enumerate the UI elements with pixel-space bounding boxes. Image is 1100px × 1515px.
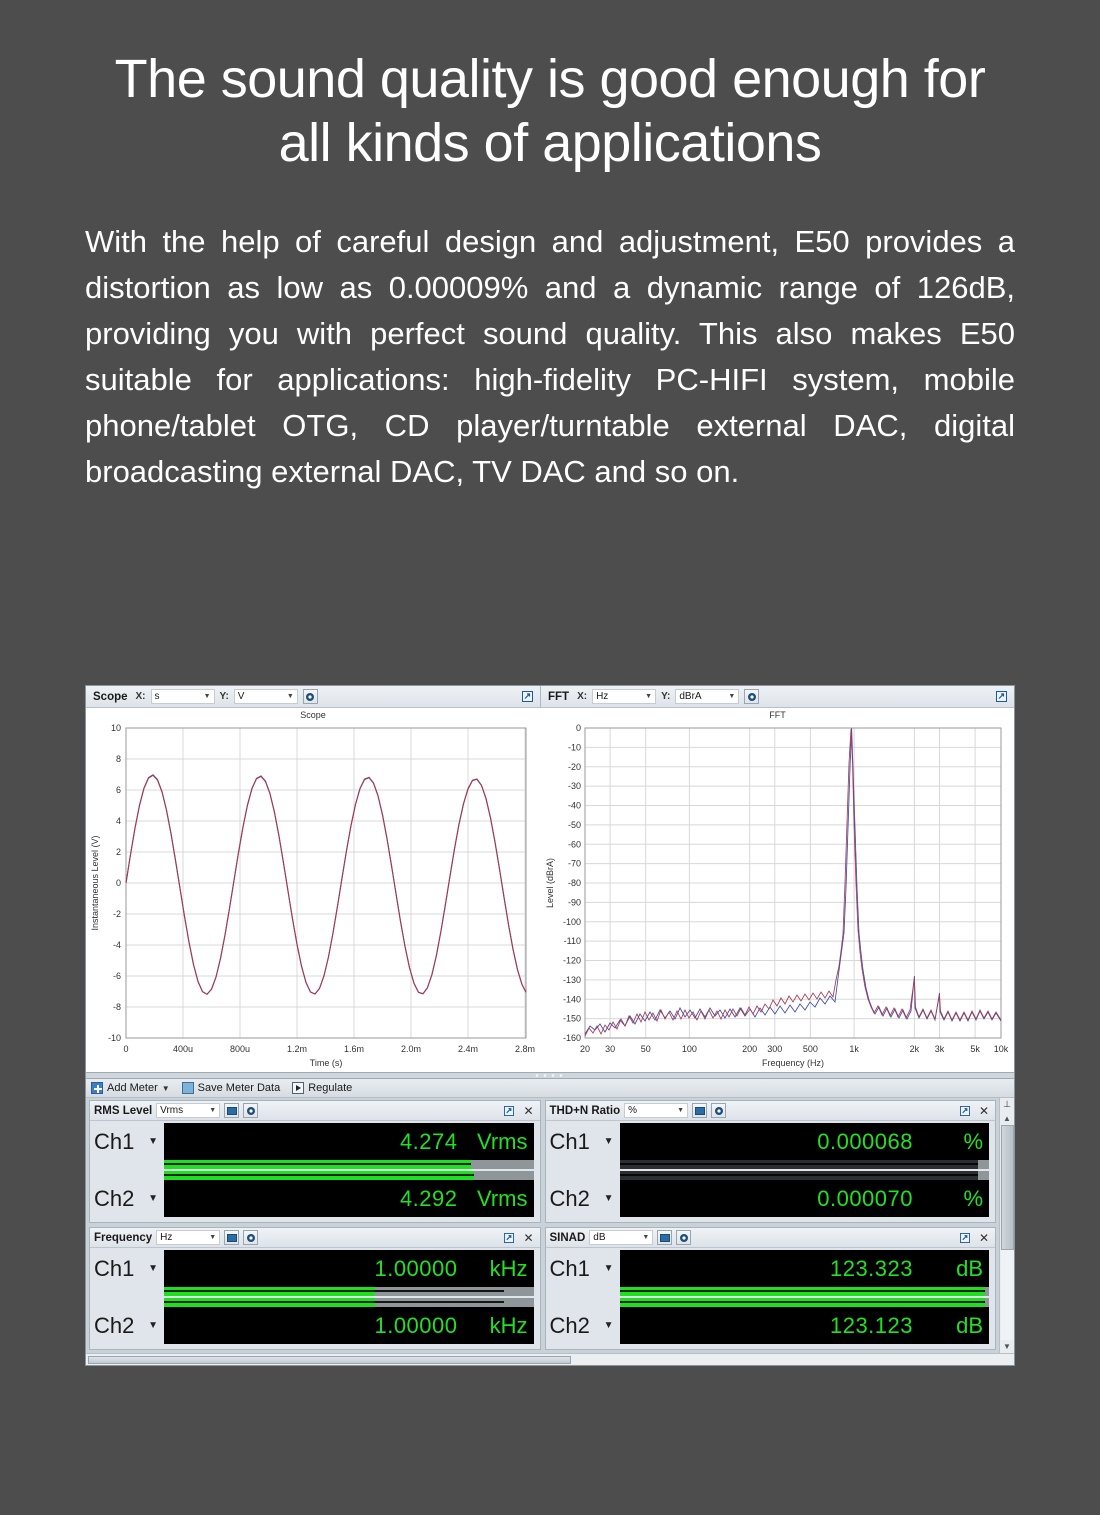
horizontal-scroll-thumb[interactable] [88,1356,571,1364]
meter-unit-value: Vrms [160,1105,183,1116]
gear-icon [246,1233,256,1243]
chevron-down-icon: ▼ [162,1084,170,1093]
scope-settings-button[interactable] [303,689,318,704]
chevron-down-icon: ▼ [728,693,735,700]
chevron-down-icon: ▼ [209,1234,216,1241]
chevron-down-icon: ▼ [148,1263,158,1274]
meter-row: Ch2 ▼ 0.000070 % [550,1180,990,1217]
channel-select[interactable]: Ch1 ▼ [94,1256,164,1282]
svg-text:-10: -10 [568,742,581,752]
channel-select[interactable]: Ch2 ▼ [94,1313,164,1339]
meter-bars [94,1287,534,1307]
svg-text:0: 0 [576,723,581,733]
meter-display-button[interactable] [692,1103,707,1118]
chevron-down-icon: ▼ [604,1263,614,1274]
save-icon [182,1082,194,1094]
scope-popout-button[interactable] [519,691,536,702]
chevron-down-icon: ▼ [645,693,652,700]
meter-sinad: SINAD dB ▼ ✕ [545,1227,997,1350]
channel-label: Ch1 [550,1129,590,1155]
scope-x-unit-value: s [155,691,160,702]
chevron-down-icon: ▼ [604,1193,614,1204]
svg-text:-20: -20 [568,762,581,772]
meter-readout: 1.00000 kHz [164,1307,534,1344]
page-title: The sound quality is good enough for all… [85,48,1015,175]
meter-readout: 123.123 dB [620,1307,990,1344]
chevron-down-icon: ▼ [677,1107,684,1114]
svg-text:400u: 400u [173,1044,193,1054]
channel-select[interactable]: Ch2 ▼ [550,1186,620,1212]
popout-icon [504,1106,514,1116]
meter-readout: 0.000070 % [620,1180,990,1217]
plus-icon [91,1082,103,1094]
scope-y-axis-label: Y: [220,691,229,702]
meter-value: 0.000070 [817,1186,913,1212]
svg-text:-10: -10 [108,1033,121,1043]
add-meter-label: Add Meter [107,1082,158,1094]
meter-body: Ch1 ▼ 4.274 Vrms Ch2 [90,1121,540,1222]
svg-text:30: 30 [605,1044,615,1054]
svg-text:1.2m: 1.2m [287,1044,307,1054]
meter-unit: dB [925,1256,983,1282]
svg-text:Time (s): Time (s) [310,1058,343,1068]
svg-text:2.0m: 2.0m [401,1044,421,1054]
svg-text:Level (dBrA): Level (dBrA) [545,858,555,908]
meter-row: Ch1 ▼ 4.274 Vrms [94,1123,534,1160]
scope-panel-title: Scope [90,691,131,703]
regulate-button[interactable]: Regulate [292,1082,352,1094]
meter-title: SINAD [550,1232,586,1244]
graph-panes: Scope X: s ▼ Y: V ▼ [86,686,1014,1072]
fft-plot-title: FFT [541,710,1014,720]
svg-text:0: 0 [123,1044,128,1054]
meter-settings-button[interactable] [243,1103,258,1118]
meter-unit-select[interactable]: % ▼ [624,1103,688,1118]
scope-y-unit-value: V [238,691,245,702]
svg-text:-4: -4 [113,940,121,950]
popout-icon [522,691,533,702]
scope-chart: 1086 420 -2-4-6 -8-10 0400u800u 1.2m1.6m… [86,708,541,1072]
fft-plot-area[interactable]: FFT [541,708,1014,1072]
meter-header: Frequency Hz ▼ ✕ [90,1228,540,1248]
fft-panel-header: FFT X: Hz ▼ Y: dBrA ▼ [541,686,1014,708]
channel-select[interactable]: Ch2 ▼ [550,1313,620,1339]
meter-unit: kHz [470,1313,528,1339]
meter-readout: 0.000068 % [620,1123,990,1160]
scroll-up-icon[interactable]: ▲ [1003,1112,1011,1125]
chevron-down-icon: ▼ [604,1320,614,1331]
display-icon [695,1107,705,1115]
fft-y-unit-select[interactable]: dBrA ▼ [675,689,739,704]
meter-title: RMS Level [94,1105,152,1117]
meter-popout-button[interactable] [957,1106,973,1116]
meters-grid: RMS Level Vrms ▼ ✕ [86,1098,999,1353]
scroll-track[interactable] [1001,1125,1014,1340]
fft-x-unit-select[interactable]: Hz ▼ [592,689,656,704]
svg-text:10k: 10k [994,1044,1009,1054]
meter-value: 0.000068 [817,1129,913,1155]
chevron-down-icon: ▼ [148,1320,158,1331]
meter-row: Ch2 ▼ 4.292 Vrms [94,1180,534,1217]
gear-icon [714,1106,724,1116]
chevron-down-icon: ▼ [604,1136,614,1147]
gear-icon [747,692,757,702]
scope-x-axis-label: X: [136,691,146,702]
svg-text:-150: -150 [563,1014,581,1024]
svg-text:-140: -140 [563,994,581,1004]
meter-rms-level: RMS Level Vrms ▼ ✕ [89,1100,541,1223]
channel-select[interactable]: Ch1 ▼ [94,1129,164,1155]
meter-bar-ch2 [620,1298,990,1307]
svg-text:300: 300 [767,1044,782,1054]
svg-text:2k: 2k [910,1044,920,1054]
channel-select[interactable]: Ch1 ▼ [550,1129,620,1155]
svg-text:200: 200 [742,1044,757,1054]
svg-text:6: 6 [116,785,121,795]
meter-readout: 4.274 Vrms [164,1123,534,1160]
meter-row: Ch2 ▼ 123.123 dB [550,1307,990,1344]
svg-text:50: 50 [641,1044,651,1054]
meter-display-button[interactable] [224,1103,239,1118]
svg-text:5k: 5k [970,1044,980,1054]
scroll-thumb[interactable] [1001,1125,1014,1250]
meter-bar-ch2 [164,1298,534,1307]
svg-text:-120: -120 [563,956,581,966]
meter-unit-select[interactable]: dB ▼ [589,1230,653,1245]
meter-settings-button[interactable] [676,1230,691,1245]
svg-text:-90: -90 [568,897,581,907]
meter-row: Ch1 ▼ 123.323 dB [550,1250,990,1287]
svg-text:1k: 1k [849,1044,859,1054]
channel-label: Ch2 [550,1313,590,1339]
svg-text:-160: -160 [563,1033,581,1043]
meter-close-button[interactable]: ✕ [521,1231,535,1245]
meters-area: RMS Level Vrms ▼ ✕ [86,1098,1014,1353]
chevron-down-icon: ▼ [148,1136,158,1147]
meter-unit-select[interactable]: Hz ▼ [156,1230,220,1245]
play-icon [292,1082,304,1094]
svg-text:2: 2 [116,847,121,857]
channel-select[interactable]: Ch2 ▼ [94,1186,164,1212]
meter-title: THD+N Ratio [550,1105,621,1117]
scope-panel-header: Scope X: s ▼ Y: V ▼ [86,686,540,708]
scope-plot-title: Scope [86,710,540,720]
meter-popout-button[interactable] [501,1233,517,1243]
meter-toolbar: Add Meter ▼ Save Meter Data Regulate [86,1079,1014,1098]
fft-chart: 0-10-20 -30-40-50 -60-70-80 -90-100-110 … [541,708,1014,1072]
meter-frequency: Frequency Hz ▼ ✕ [89,1227,541,1350]
svg-text:-40: -40 [568,801,581,811]
chevron-down-icon: ▼ [287,693,294,700]
svg-text:2.4m: 2.4m [458,1044,478,1054]
chevron-down-icon: ▼ [209,1107,216,1114]
channel-label: Ch2 [94,1313,134,1339]
svg-text:-6: -6 [113,971,121,981]
meter-readout: 123.323 dB [620,1250,990,1287]
svg-text:-50: -50 [568,820,581,830]
scroll-down-icon[interactable]: ▼ [1003,1340,1011,1353]
meter-row: Ch1 ▼ 0.000068 % [550,1123,990,1160]
horizontal-scrollbar[interactable] [86,1353,1014,1365]
svg-text:1.6m: 1.6m [344,1044,364,1054]
svg-text:8: 8 [116,754,121,764]
channel-label: Ch2 [550,1186,590,1212]
meter-unit: kHz [470,1256,528,1282]
svg-text:-110: -110 [564,936,581,946]
svg-text:2.8m: 2.8m [515,1044,535,1054]
meter-unit: dB [925,1313,983,1339]
meter-bars [550,1287,990,1307]
meter-bar-ch1 [620,1160,990,1169]
svg-text:-70: -70 [568,859,581,869]
meter-bar-ch1 [620,1287,990,1296]
popout-icon [960,1233,970,1243]
popout-icon [960,1106,970,1116]
meter-unit-value: Hz [160,1232,172,1243]
meter-title: Frequency [94,1232,152,1244]
channel-label: Ch1 [94,1129,134,1155]
pin-icon[interactable]: ⊥ [1003,1098,1011,1112]
svg-text:500: 500 [803,1044,818,1054]
svg-text:800u: 800u [230,1044,250,1054]
svg-text:-8: -8 [113,1002,121,1012]
meter-header: THD+N Ratio % ▼ ✕ [546,1101,996,1121]
meter-thdn-ratio: THD+N Ratio % ▼ ✕ [545,1100,997,1223]
meter-row: Ch1 ▼ 1.00000 kHz [94,1250,534,1287]
meter-bars [94,1160,534,1180]
meter-row: Ch2 ▼ 1.00000 kHz [94,1307,534,1344]
meter-display-button[interactable] [224,1230,239,1245]
chevron-down-icon: ▼ [148,1193,158,1204]
svg-text:20: 20 [580,1044,590,1054]
svg-text:-30: -30 [568,781,581,791]
fft-popout-button[interactable] [993,691,1010,702]
meter-body: Ch1 ▼ 123.323 dB Ch2 [546,1248,996,1349]
meter-bar-ch2 [620,1171,990,1180]
svg-text:100: 100 [682,1044,697,1054]
meters-vertical-scrollbar[interactable]: ⊥ ▲ ▼ [999,1098,1014,1353]
display-icon [660,1234,670,1242]
svg-text:10: 10 [111,723,121,733]
svg-text:-2: -2 [113,909,121,919]
fft-y-axis-label: Y: [661,691,670,702]
gear-icon [679,1233,689,1243]
hero-section: The sound quality is good enough for all… [0,48,1100,495]
meter-bars [550,1160,990,1180]
scope-x-unit-select[interactable]: s ▼ [151,689,215,704]
meter-readout: 4.292 Vrms [164,1180,534,1217]
fft-settings-button[interactable] [744,689,759,704]
meter-value: 4.292 [400,1186,458,1212]
channel-select[interactable]: Ch1 ▼ [550,1256,620,1282]
pane-splitter[interactable] [86,1072,1014,1079]
fft-x-unit-value: Hz [596,691,608,702]
channel-label: Ch1 [550,1256,590,1282]
meter-bar-ch2 [164,1171,534,1180]
splitter-grip [533,1074,567,1077]
fft-x-axis-label: X: [577,691,587,702]
svg-text:0: 0 [116,878,121,888]
channel-label: Ch1 [94,1256,134,1282]
fft-panel: FFT X: Hz ▼ Y: dBrA ▼ [541,686,1014,1072]
scope-plot-area[interactable]: Scope [86,708,540,1072]
audio-analyzer-window: Scope X: s ▼ Y: V ▼ [85,685,1015,1366]
meter-value: 4.274 [400,1129,458,1155]
meter-body: Ch1 ▼ 1.00000 kHz Ch2 [90,1248,540,1349]
meter-readout: 1.00000 kHz [164,1250,534,1287]
chevron-down-icon: ▼ [642,1234,649,1241]
meter-close-button[interactable]: ✕ [977,1104,991,1118]
meter-unit: Vrms [470,1186,528,1212]
fft-panel-title: FFT [545,691,572,703]
save-meter-data-button[interactable]: Save Meter Data [182,1082,281,1094]
meter-unit-select[interactable]: Vrms ▼ [156,1103,220,1118]
meter-settings-button[interactable] [711,1103,726,1118]
svg-text:-80: -80 [568,878,581,888]
save-meter-data-label: Save Meter Data [198,1082,281,1094]
meter-unit-value: % [628,1105,637,1116]
svg-text:-60: -60 [568,839,581,849]
svg-text:3k: 3k [935,1044,945,1054]
svg-text:-130: -130 [563,975,581,985]
meter-value: 1.00000 [374,1313,457,1339]
meter-unit-value: dB [593,1232,605,1243]
scope-panel: Scope X: s ▼ Y: V ▼ [86,686,541,1072]
page-description: With the help of careful design and adju… [85,219,1015,494]
channel-label: Ch2 [94,1186,134,1212]
svg-text:-100: -100 [563,917,581,927]
meter-value: 123.323 [830,1256,913,1282]
popout-icon [504,1233,514,1243]
regulate-label: Regulate [308,1082,352,1094]
gear-icon [246,1106,256,1116]
meter-unit: % [925,1186,983,1212]
meter-close-button[interactable]: ✕ [977,1231,991,1245]
gear-icon [305,692,315,702]
display-icon [227,1107,237,1115]
meter-bar-ch1 [164,1160,534,1169]
meter-settings-button[interactable] [243,1230,258,1245]
meter-unit: % [925,1129,983,1155]
chevron-down-icon: ▼ [204,693,211,700]
svg-text:Instantaneous Level (V): Instantaneous Level (V) [90,835,100,930]
svg-text:Frequency (Hz): Frequency (Hz) [762,1058,824,1068]
scope-y-unit-select[interactable]: V ▼ [234,689,298,704]
meter-header: RMS Level Vrms ▼ ✕ [90,1101,540,1121]
meter-popout-button[interactable] [957,1233,973,1243]
meter-display-button[interactable] [657,1230,672,1245]
meter-popout-button[interactable] [501,1106,517,1116]
meter-body: Ch1 ▼ 0.000068 % Ch2 [546,1121,996,1222]
popout-icon [996,691,1007,702]
add-meter-button[interactable]: Add Meter ▼ [91,1082,170,1094]
meter-value: 123.123 [830,1313,913,1339]
svg-text:4: 4 [116,816,121,826]
meter-header: SINAD dB ▼ ✕ [546,1228,996,1248]
meter-value: 1.00000 [374,1256,457,1282]
fft-y-unit-value: dBrA [679,691,701,702]
meter-close-button[interactable]: ✕ [521,1104,535,1118]
meter-unit: Vrms [470,1129,528,1155]
meter-bar-ch1 [164,1287,534,1296]
display-icon [227,1234,237,1242]
